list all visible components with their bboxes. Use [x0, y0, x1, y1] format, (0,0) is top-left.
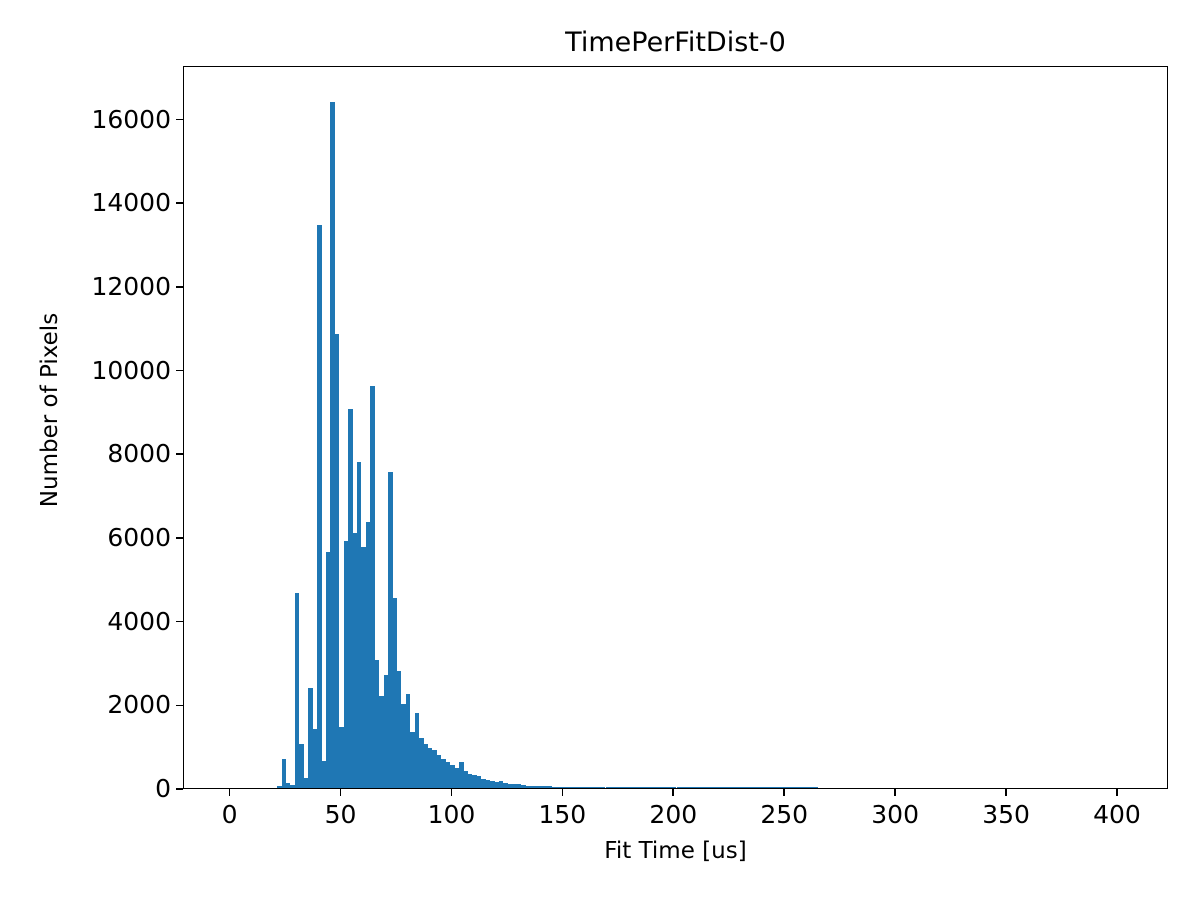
histogram-bar [317, 225, 321, 788]
x-axis-tick-label: 50 [281, 800, 401, 830]
y-axis-tick-mark [176, 621, 183, 623]
y-axis-tick-mark [176, 119, 183, 121]
x-axis-tick-mark [1116, 789, 1118, 796]
x-axis-tick-mark [783, 789, 785, 796]
y-axis-tick-mark [176, 286, 183, 288]
y-axis-tick-label: 4000 [0, 609, 171, 634]
x-axis-tick-label: 300 [835, 800, 955, 830]
histogram-bar [335, 334, 339, 788]
x-axis-tick-label: 200 [613, 800, 733, 830]
y-axis-label: Number of Pixels [37, 230, 63, 590]
y-axis-tick-mark [176, 705, 183, 707]
y-axis-tick-mark [176, 453, 183, 455]
chart-title: TimePerFitDist-0 [183, 26, 1168, 60]
histogram-bars [184, 67, 1167, 788]
figure-canvas: TimePerFitDist-0 02000400060008000100001… [0, 0, 1200, 900]
y-axis-tick-label: 0 [0, 776, 171, 801]
y-axis-tick-mark [176, 370, 183, 372]
y-axis-tick-label: 14000 [0, 190, 171, 215]
x-axis-tick-mark [672, 789, 674, 796]
x-axis-tick-mark [229, 789, 231, 796]
histogram-bar [814, 787, 818, 788]
x-axis-tick-label: 400 [1057, 800, 1177, 830]
x-axis-tick-mark [451, 789, 453, 796]
y-axis-tick-mark [176, 202, 183, 204]
x-axis-tick-mark [340, 789, 342, 796]
y-axis-tick-mark [176, 788, 183, 790]
x-axis-tick-mark [894, 789, 896, 796]
y-axis-tick-mark [176, 537, 183, 539]
x-axis-tick-label: 150 [502, 800, 622, 830]
plot-area [183, 66, 1168, 789]
x-axis-tick-label: 250 [724, 800, 844, 830]
x-axis-tick-label: 100 [391, 800, 511, 830]
y-axis-tick-label: 10000 [0, 358, 171, 383]
y-axis-tick-label: 6000 [0, 525, 171, 550]
y-axis-tick-label: 16000 [0, 107, 171, 132]
y-axis-tick-label: 8000 [0, 441, 171, 466]
x-axis-tick-label: 350 [946, 800, 1066, 830]
y-axis-tick-label: 2000 [0, 692, 171, 717]
x-axis-label: Fit Time [us] [183, 838, 1168, 864]
x-axis-tick-label: 0 [170, 800, 290, 830]
x-axis-tick-mark [1005, 789, 1007, 796]
y-axis-tick-label: 12000 [0, 274, 171, 299]
x-axis-tick-mark [562, 789, 564, 796]
